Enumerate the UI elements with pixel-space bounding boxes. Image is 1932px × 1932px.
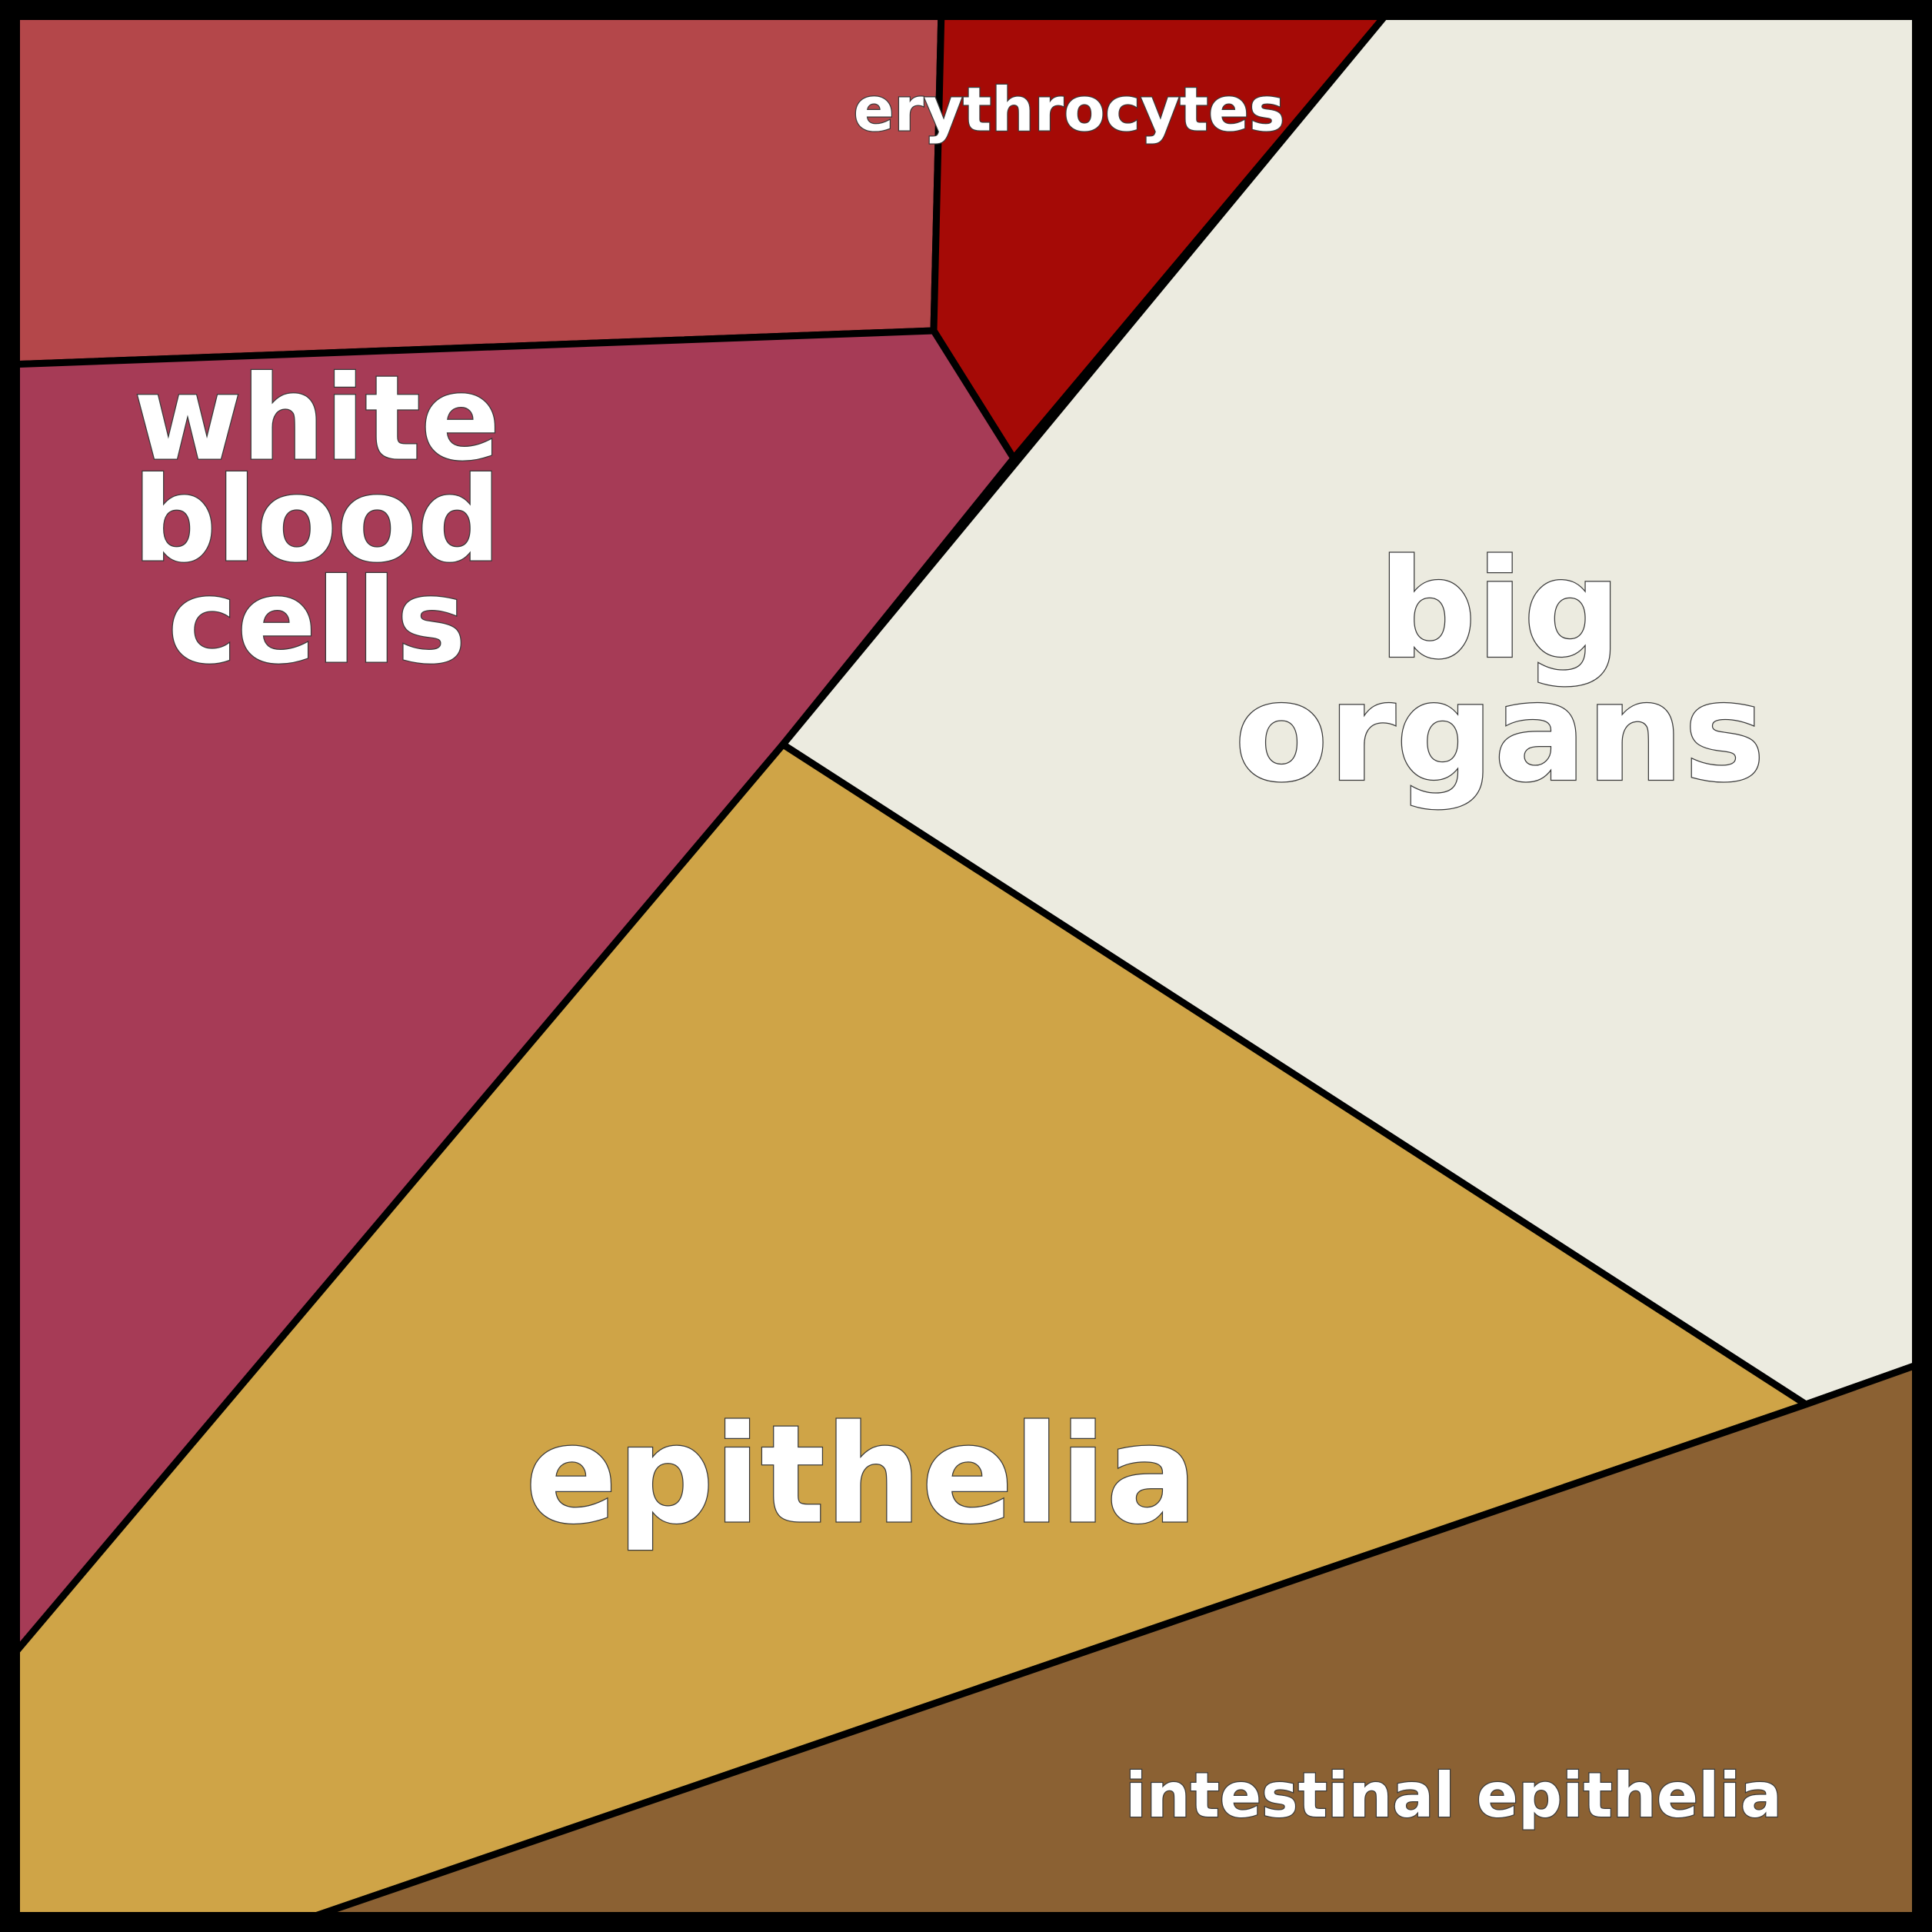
label-line: organs	[1234, 653, 1765, 812]
label-erythrocytes: erythrocytes	[854, 75, 1285, 145]
voronoi-treemap-figure: erythrocytes epithelia intestinal epithe…	[0, 0, 1932, 1932]
label-intestinal-epithelia: intestinal epithelia	[1125, 1760, 1782, 1831]
label-white-blood-cells: whitebloodcells	[133, 351, 501, 690]
label-line: cells	[168, 554, 466, 690]
label-epithelia: epithelia	[525, 1396, 1198, 1554]
voronoi-diagram-canvas: erythrocytes epithelia intestinal epithe…	[0, 0, 1932, 1932]
cell-unlabeled-top-left[interactable]	[9, 9, 941, 365]
